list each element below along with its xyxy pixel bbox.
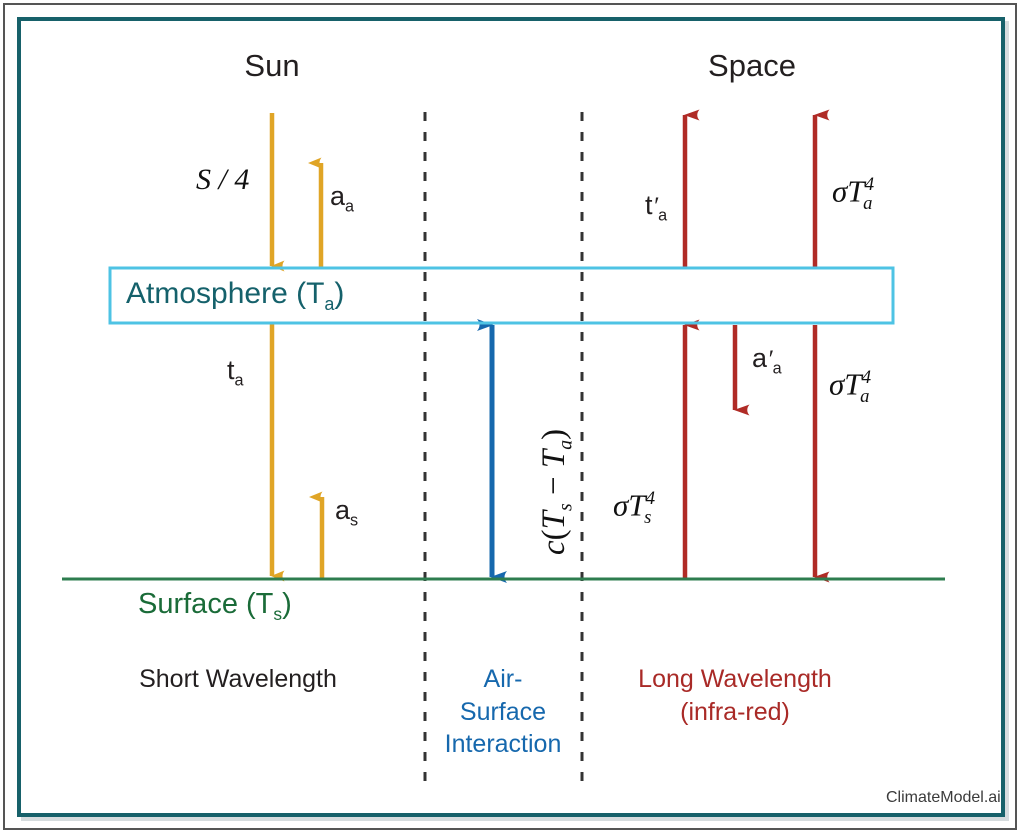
category-line-1: Long Wavelength [638,663,832,696]
flux-label-ir-transmission: t′a [645,192,667,224]
flux-sub: a [773,359,782,377]
surface-label-close: ) [282,588,292,620]
diagram-canvas: Sun Space Atmosphere (Ta) Surface (Ts) S… [0,0,1024,835]
category-line-1: Air- [445,663,562,696]
flux-label-atmosphere-albedo: aa [330,183,354,215]
flux-sup: 4 [862,367,872,388]
minus-sign: − [536,468,572,503]
flux-label-atmosphere-emission-up: σT4a [832,175,872,213]
paren-open: ( [536,529,572,540]
heading-space: Space [708,50,796,81]
temp-surface: T [536,511,572,529]
paren-close: ) [536,429,572,440]
flux-label-incoming-solar: S / 4 [196,165,249,195]
flux-sup: 4 [865,174,875,195]
category-air-surface-interaction: Air- Surface Interaction [445,663,562,761]
category-line-3: Interaction [445,728,562,761]
flux-sup: 4 [646,488,656,509]
temp-atmosphere-sub: a [555,440,577,450]
flux-base: t [227,355,235,385]
flux-label-atmosphere-transmission: ta [227,357,244,389]
flux-sub: a [235,371,244,389]
atmosphere-label-main: Atmosphere (T [126,277,324,310]
surface-layer-label: Surface (Ts) [138,590,292,623]
atmosphere-label-sub: a [324,294,334,314]
heading-sun: Sun [244,50,299,81]
flux-base: T [847,173,864,208]
category-line-2: Surface [445,696,562,729]
flux-label-surface-emission: σT4s [613,489,651,527]
watermark-label: ClimateModel.ai [886,789,1001,807]
flux-sub: a [345,197,354,215]
flux-sub: a [863,193,872,214]
flux-base: T [628,487,645,522]
flux-sub: a [658,206,667,224]
temp-surface-sub: s [555,503,577,511]
surface-label-sub: s [273,604,282,624]
flux-base: a [335,495,350,525]
sigma-symbol: σ [613,487,628,522]
category-short-wavelength: Short Wavelength [139,663,337,696]
flux-label-surface-albedo: as [335,497,358,529]
flux-base: t [645,190,653,220]
atmosphere-layer-label: Atmosphere (Ta) [126,279,344,313]
coefficient-c: c [536,540,572,555]
flux-label-ir-absorption: a′a [752,345,782,377]
flux-label-atmosphere-emission-down: σT4a [829,368,869,406]
flux-sub: a [860,386,869,407]
flux-label-air-surface-flux: c(Ts − Ta) [536,429,578,555]
sigma-symbol: σ [829,366,844,401]
surface-label-main: Surface (T [138,588,273,620]
category-long-wavelength: Long Wavelength (infra-red) [638,663,832,728]
flux-base: a [752,343,767,373]
temp-atmosphere: T [536,450,572,468]
flux-base: a [330,181,345,211]
flux-base: T [844,366,861,401]
sigma-symbol: σ [832,173,847,208]
flux-sub: s [644,507,651,528]
atmosphere-label-close: ) [334,277,344,310]
flux-sub: s [350,511,358,529]
category-line-2: (infra-red) [638,696,832,729]
